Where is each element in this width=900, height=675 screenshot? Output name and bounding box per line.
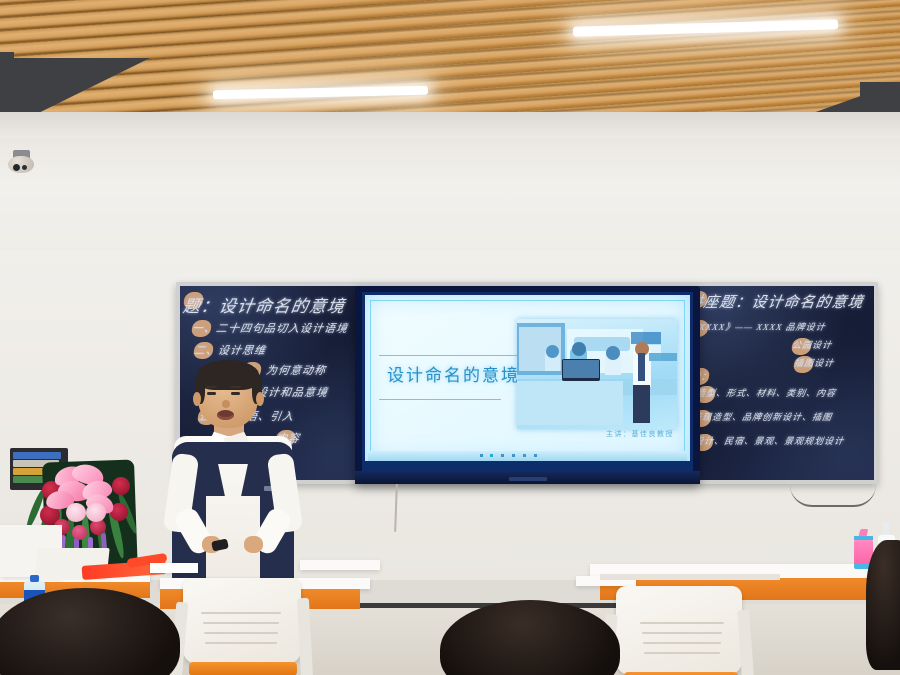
blackboard-left-line-2: 二、设计思维 (193, 342, 215, 359)
mouth (217, 410, 234, 420)
chair-back (616, 586, 742, 675)
slide-photo (517, 319, 677, 429)
desk-center-shelf (300, 560, 380, 570)
presentation-slide: 设计命名的意境 (365, 295, 690, 461)
slide-credit: 主讲：基佳良教授 (606, 429, 674, 439)
eye-left (207, 392, 216, 395)
taskbar[interactable] (368, 451, 687, 461)
desk-right-edge (600, 574, 780, 580)
interactive-display[interactable]: 设计命名的意境 (355, 286, 700, 484)
camera-lens (13, 164, 20, 171)
ceiling (0, 0, 900, 122)
camera-lens-secondary (22, 165, 27, 170)
display-cable-right (790, 485, 876, 507)
ear-right (256, 392, 264, 406)
blackboard-right-sheen (684, 286, 874, 480)
eye-right (231, 392, 240, 395)
blackboard-right: 讲座题：设计命名的意境 《XXXX》—— XXXX 品牌设计 公园设计 插图设计… (684, 286, 874, 480)
eyebrow-left (206, 386, 217, 388)
chair-seat (189, 662, 297, 675)
hand-right (244, 536, 263, 553)
presenter (168, 358, 298, 590)
blackboard-left-line-1: 一、二十四句品切入设计语境 (191, 320, 213, 337)
chair-back (183, 578, 301, 664)
wall-soffit (0, 112, 900, 138)
display-bezel-bottom (355, 471, 700, 484)
paper-sheet (150, 563, 198, 573)
student-front-left (0, 588, 180, 675)
blackboard-left-heading: 题：设计命名的意境 (183, 292, 205, 309)
security-camera-icon (6, 150, 36, 174)
eyebrow-right (230, 386, 241, 388)
ear-left (193, 392, 201, 406)
student-front-right (866, 540, 900, 670)
slide-rule-top (379, 355, 529, 356)
camera-body (8, 156, 34, 173)
display-panel: 设计命名的意境 (362, 292, 693, 471)
classroom-photo: 题：设计命名的意境 一、二十四句品切入设计语境 二、设计思维 三、为何意动称 四… (0, 0, 900, 675)
slide-title: 设计命名的意境 (387, 361, 520, 386)
display-brand-logo (509, 477, 547, 481)
nose (222, 400, 230, 408)
slide-rule-bottom (379, 399, 501, 400)
